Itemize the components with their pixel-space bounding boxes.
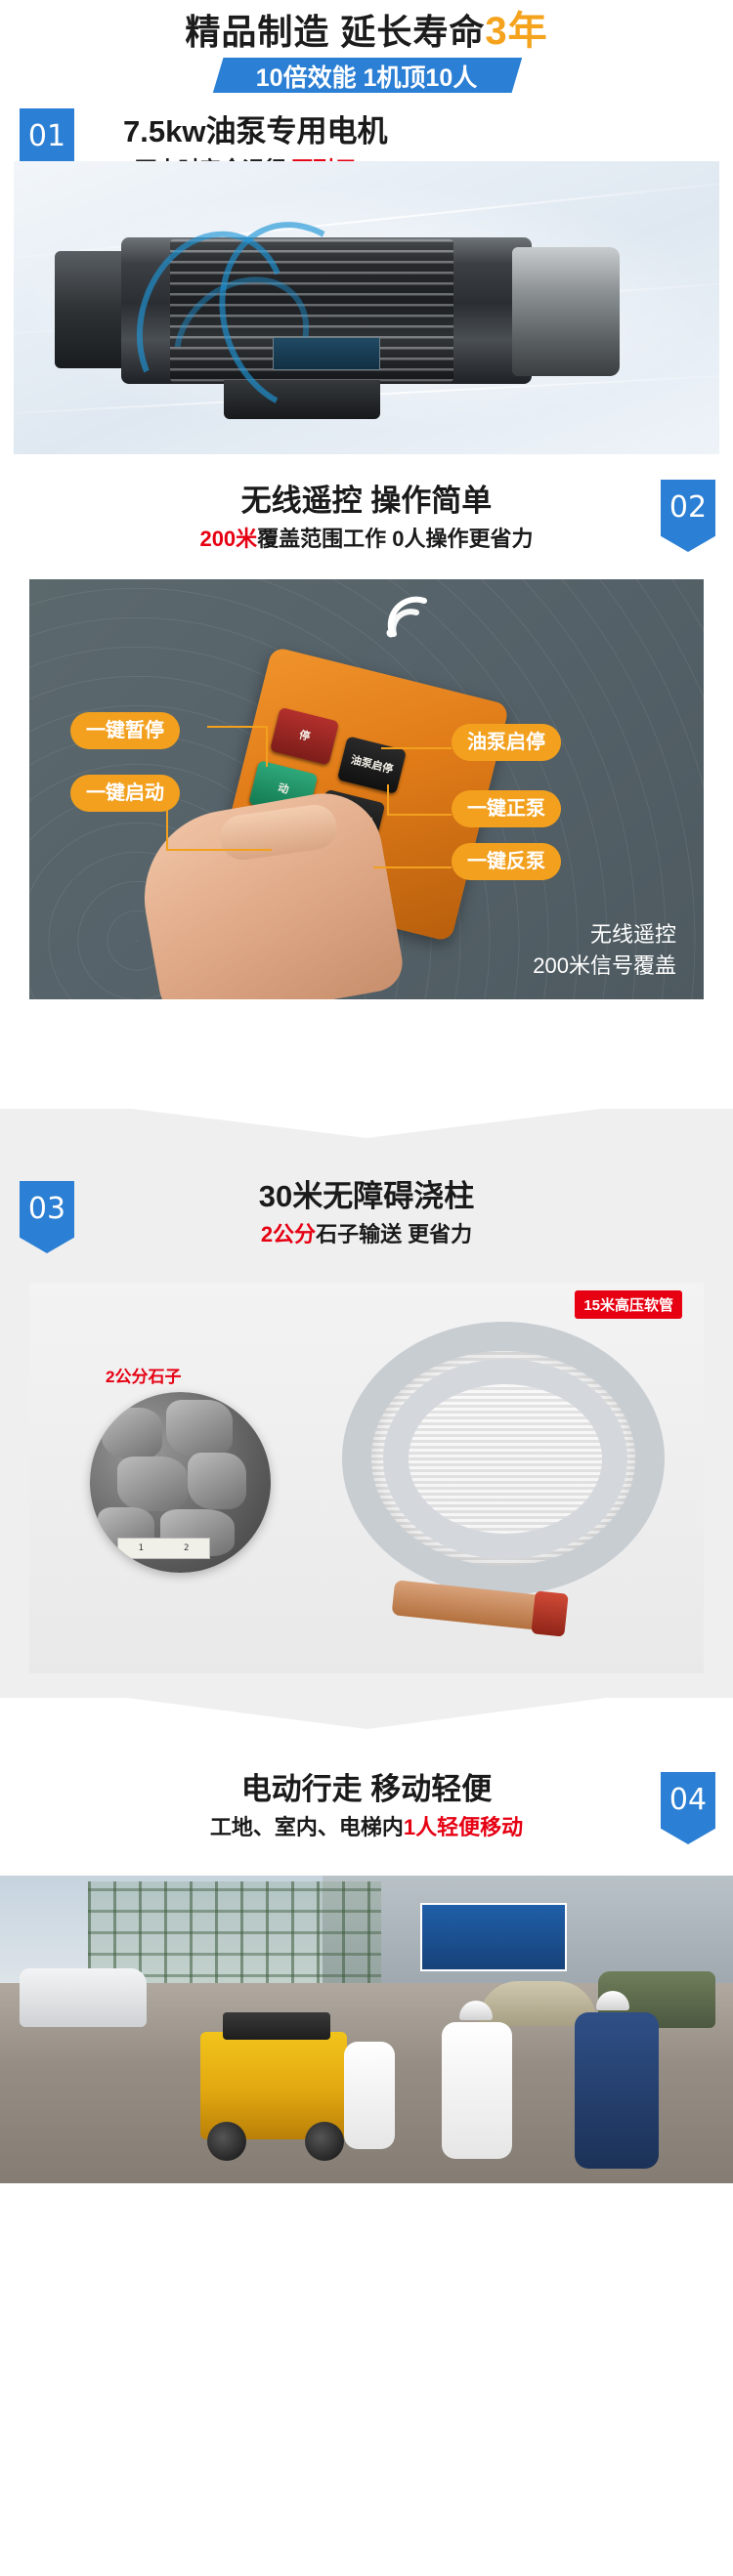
worker-white-shirt <box>442 2022 512 2159</box>
worker-operator <box>344 2042 395 2149</box>
hose-coil-inner <box>383 1359 627 1559</box>
section-04-subtitle: 工地、室内、电梯内1人轻便移动 <box>0 1813 733 1842</box>
section-03-subtitle: 2公分石子输送 更省力 <box>0 1220 733 1249</box>
chevron-separator-bottom <box>0 1698 733 1756</box>
machine-wheel-right <box>305 2122 344 2161</box>
section-03-subtitle-highlight: 2公分 <box>261 1222 316 1246</box>
hose-photo: 15米高压软管 2公分石子 1 2 <box>29 1283 704 1673</box>
ruler-mark-1: 1 <box>139 1543 144 1553</box>
machine-wheel-left <box>207 2122 246 2161</box>
motor-nameplate <box>273 337 380 370</box>
callout-start: 一键启动 <box>70 775 180 812</box>
remote-control-photo: 停 油泵启停 动 正泵启停 备用 反泵 一键暂停 一键启动 油泵启停 一键正泵 … <box>29 579 704 999</box>
remote-caption: 无线遥控 200米信号覆盖 <box>533 919 676 982</box>
remote-key-stop[interactable]: 停 <box>270 707 339 766</box>
section-01-title: 7.5kw油泵专用电机 <box>123 112 387 151</box>
footer-spacer <box>0 2183 733 2195</box>
callout-reverse: 一键反泵 <box>452 843 561 880</box>
section-03-subtitle-plain: 石子输送 更省力 <box>316 1222 472 1246</box>
section-04-subtitle-plain: 工地、室内、电梯内 <box>210 1815 404 1839</box>
worker-blue-shirt <box>575 2012 659 2169</box>
pump-machine-motor <box>223 2012 330 2040</box>
callout-pause: 一键暂停 <box>70 712 180 749</box>
section-03-head: 03 30米无障碍浇柱 2公分石子输送 更省力 <box>0 1177 733 1285</box>
chevron-separator-top <box>0 1109 733 1165</box>
section-04-head: 电动行走 移动轻便 工地、室内、电梯内1人轻便移动 04 <box>0 1770 733 1876</box>
site-signboard <box>420 1903 567 1971</box>
section-03-title: 30米无障碍浇柱 <box>0 1177 733 1216</box>
leader-line-forward <box>387 784 452 816</box>
stone-sample-photo: 1 2 <box>90 1392 271 1573</box>
leader-line-pump-toggle <box>381 747 452 749</box>
tag-stone-size: 2公分石子 <box>106 1363 181 1387</box>
tag-hose-length: 15米高压软管 <box>575 1290 682 1319</box>
section-04-title: 电动行走 移动轻便 <box>0 1770 733 1809</box>
section-02-badge: 02 <box>661 480 715 552</box>
section-03: 03 30米无障碍浇柱 2公分石子输送 更省力 15米高压软管 2公分石子 <box>0 1165 733 1698</box>
page-title-highlight: 3年 <box>485 10 547 53</box>
section-02-title: 无线遥控 操作简单 <box>199 482 533 521</box>
section-02-subtitle-highlight: 200米 <box>199 527 257 551</box>
ruler-mark-2: 2 <box>184 1543 189 1553</box>
leader-line-reverse <box>373 866 452 868</box>
section-02-subtitle: 200米覆盖范围工作 0人操作更省力 <box>199 525 533 554</box>
page-title-main: 精品制造 延长寿命 <box>185 12 485 52</box>
wifi-signal-icon <box>381 595 432 638</box>
section-01: 01 7.5kw油泵专用电机 5万小时安全运行 更耐用 <box>0 93 733 464</box>
section-02-head: 无线遥控 操作简单 200米覆盖范围工作 0人操作更省力 02 <box>0 474 733 581</box>
remote-caption-line2: 200米信号覆盖 <box>533 950 676 982</box>
leader-line-start <box>166 790 272 851</box>
worksite-photo <box>0 1876 733 2183</box>
white-van <box>20 1968 147 2027</box>
motor-photo <box>14 161 719 454</box>
callout-forward: 一键正泵 <box>452 790 561 827</box>
leader-line-pause <box>207 726 268 767</box>
section-02-texts: 无线遥控 操作简单 200米覆盖范围工作 0人操作更省力 <box>199 482 533 554</box>
product-detail-page: 精品制造 延长寿命3年 10倍效能 1机顶10人 01 7.5kw油泵专用电机 … <box>0 0 733 2195</box>
section-04-subtitle-highlight: 1人轻便移动 <box>404 1815 523 1839</box>
callout-pump-toggle: 油泵启停 <box>452 724 561 761</box>
page-title: 精品制造 延长寿命3年 <box>0 10 733 54</box>
section-02: 无线遥控 操作简单 200米覆盖范围工作 0人操作更省力 02 <box>0 464 733 1109</box>
ruler-scale: 1 2 <box>117 1538 210 1559</box>
motor-end-cap <box>512 247 620 376</box>
section-04: 电动行走 移动轻便 工地、室内、电梯内1人轻便移动 04 <box>0 1756 733 2183</box>
motor-foot <box>224 380 380 419</box>
section-04-texts: 电动行走 移动轻便 工地、室内、电梯内1人轻便移动 <box>0 1770 733 1842</box>
page-header: 精品制造 延长寿命3年 10倍效能 1机顶10人 <box>0 0 733 93</box>
remote-caption-line1: 无线遥控 <box>533 919 676 950</box>
section-03-texts: 30米无障碍浇柱 2公分石子输送 更省力 <box>0 1177 733 1249</box>
section-02-subtitle-plain: 覆盖范围工作 0人操作更省力 <box>257 527 533 551</box>
